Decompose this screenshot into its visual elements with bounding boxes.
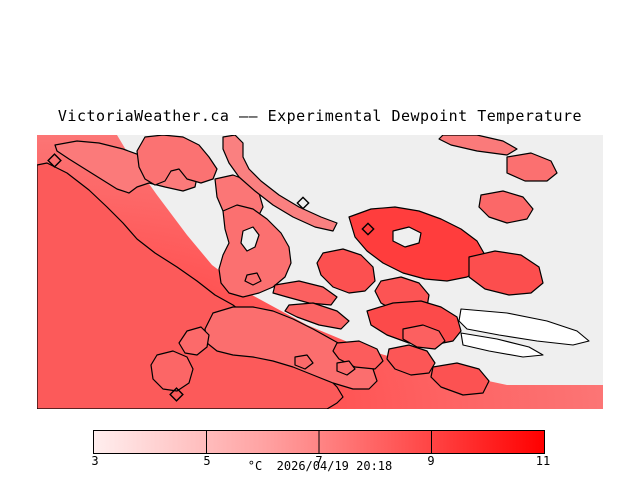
colorbar-caption: °C 2026/04/19 20:18 [0, 459, 640, 473]
map-plot-area[interactable] [37, 135, 603, 409]
weather-map-page: VictoriaWeather.ca —— Experimental Dewpo… [0, 0, 640, 480]
page-title: VictoriaWeather.ca —— Experimental Dewpo… [0, 107, 640, 125]
colorbar[interactable] [93, 430, 545, 454]
